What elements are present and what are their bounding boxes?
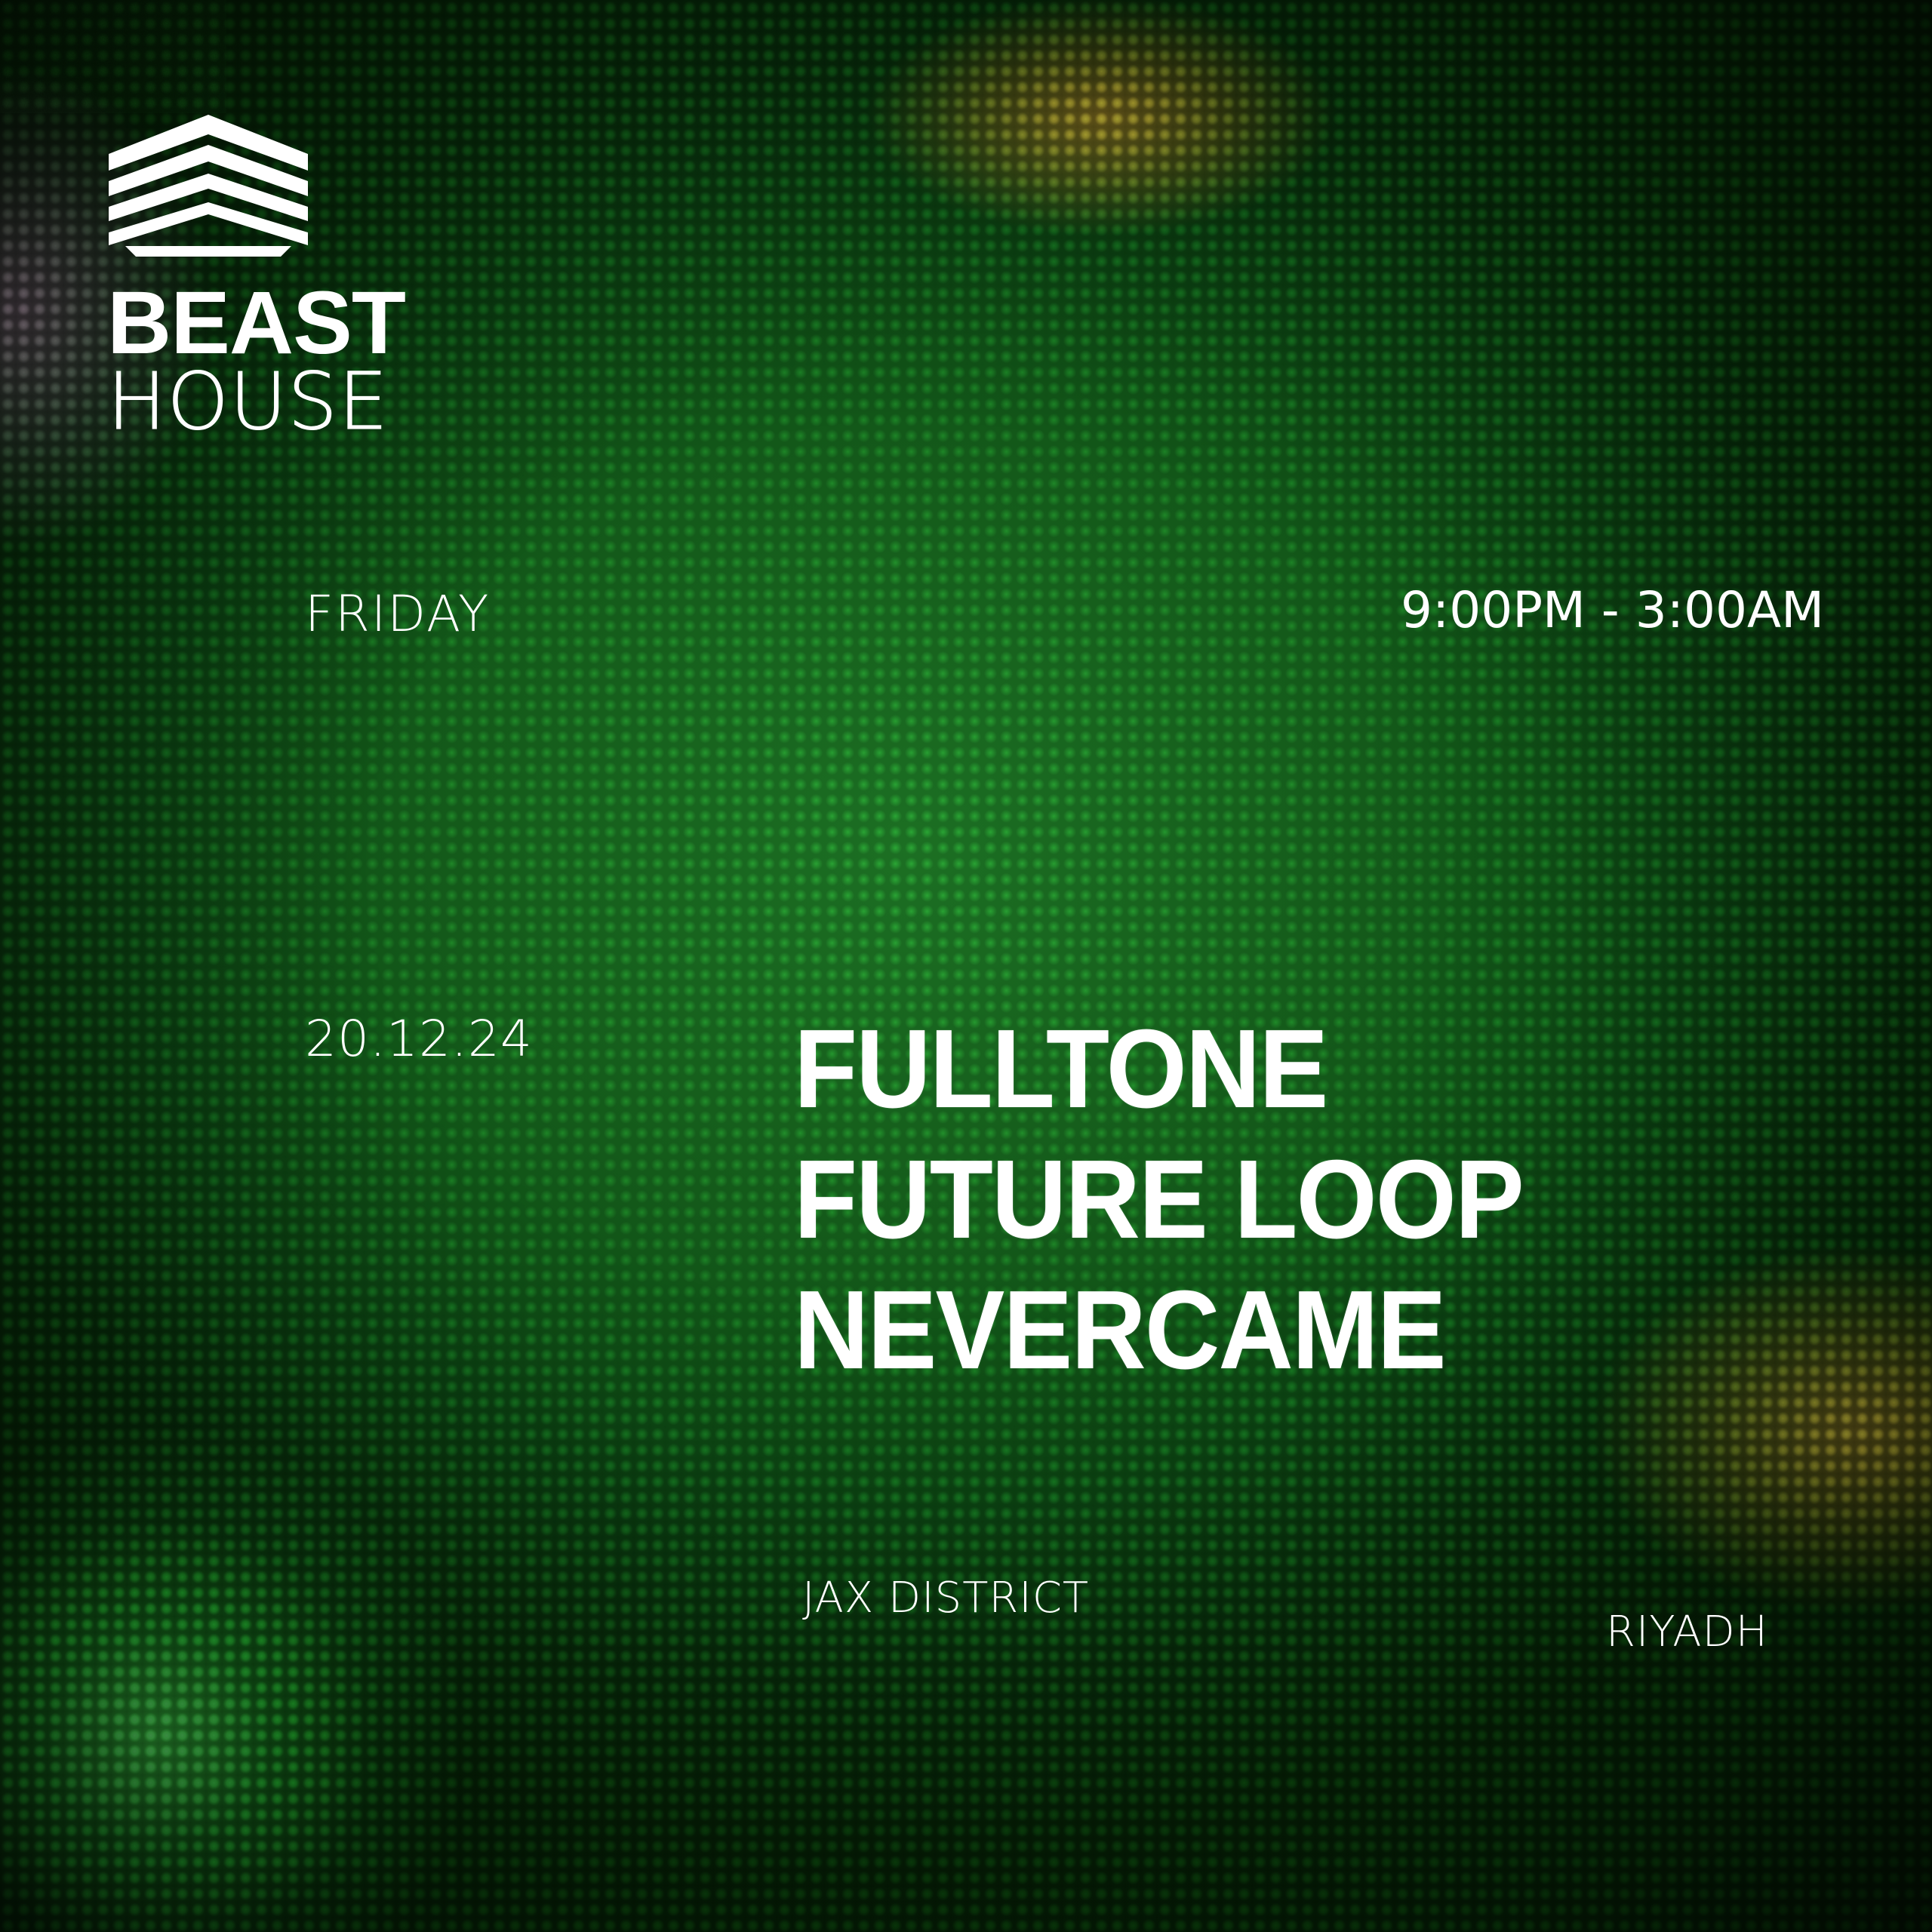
city-label: RIYADH xyxy=(1606,1607,1768,1657)
venue-label: JAX DISTRICT xyxy=(802,1574,1089,1623)
artist-lineup: FULLTONE FUTURE LOOP NEVERCAME xyxy=(794,1004,1578,1395)
event-poster: BEAST HOUSE FRIDAY 9:00PM - 3:00AM 20.12… xyxy=(0,0,1932,1932)
lineup-artist: FULLTONE xyxy=(794,1004,1523,1134)
lineup-artist: NEVERCAME xyxy=(794,1265,1523,1395)
lineup-artist: FUTURE LOOP xyxy=(794,1134,1523,1265)
event-time-label: 9:00PM - 3:00AM xyxy=(1401,581,1824,639)
event-day-label: FRIDAY xyxy=(305,585,490,643)
poster-content: BEAST HOUSE FRIDAY 9:00PM - 3:00AM 20.12… xyxy=(0,0,1932,1932)
logo-wordmark-house: HOUSE xyxy=(107,365,355,440)
logo-wordmark-beast: BEAST xyxy=(107,282,355,365)
beast-house-logo[interactable]: BEAST HOUSE xyxy=(106,113,355,439)
stacked-chevron-house-icon xyxy=(106,113,311,257)
event-date-label: 20.12.24 xyxy=(305,1010,533,1068)
